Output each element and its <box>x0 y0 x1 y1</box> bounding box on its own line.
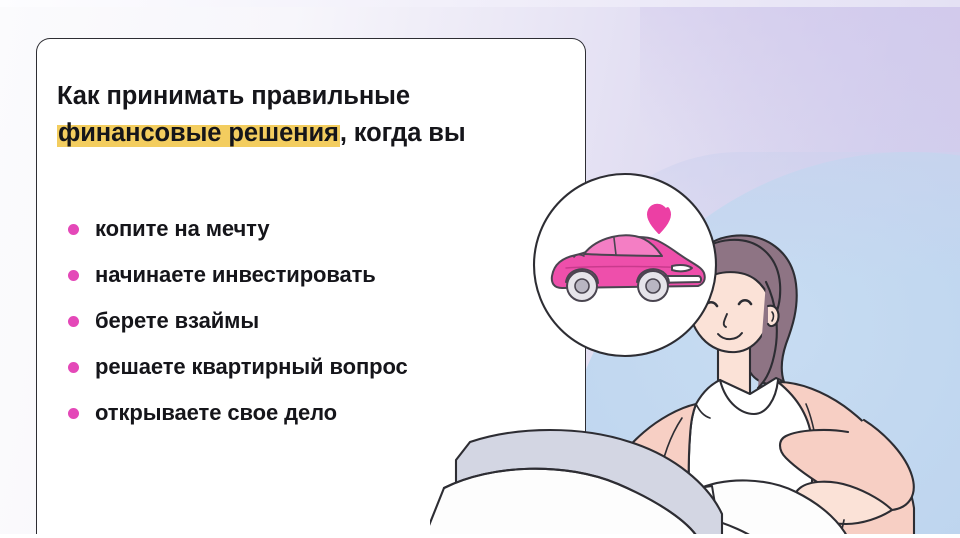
list-item-label: решаете квартирный вопрос <box>95 354 408 380</box>
bullet-dot-icon <box>68 316 79 327</box>
bullet-dot-icon <box>68 224 79 235</box>
bullet-dot-icon <box>68 270 79 281</box>
list-item-label: открываете свое дело <box>95 400 337 426</box>
background-top-band <box>0 0 960 7</box>
list-item-label: начинаете инвестировать <box>95 262 376 288</box>
page-title-line-2-rest: , когда вы <box>340 119 466 147</box>
page-title-highlight: финансовые решения <box>57 119 340 147</box>
list-item-label: копите на мечту <box>95 216 270 242</box>
page-title-line-1: Как принимать правильные <box>57 78 577 115</box>
bullet-dot-icon <box>68 362 79 373</box>
list-item: начинаете инвестировать <box>68 252 538 298</box>
list-item-label: берете взаймы <box>95 308 259 334</box>
list-item: открываете свое дело <box>68 390 538 436</box>
benefits-list: копите на мечту начинаете инвестировать … <box>68 206 538 436</box>
list-item: берете взаймы <box>68 298 538 344</box>
bottom-edge-strip <box>0 534 960 538</box>
thought-bubble <box>532 172 718 358</box>
list-item: решаете квартирный вопрос <box>68 344 538 390</box>
list-item: копите на мечту <box>68 206 538 252</box>
slide-canvas: Как принимать правильные финансовые реше… <box>0 0 960 538</box>
page-title: Как принимать правильные финансовые реше… <box>57 78 577 152</box>
bullet-dot-icon <box>68 408 79 419</box>
page-title-line-2: финансовые решения, когда вы <box>57 115 577 152</box>
